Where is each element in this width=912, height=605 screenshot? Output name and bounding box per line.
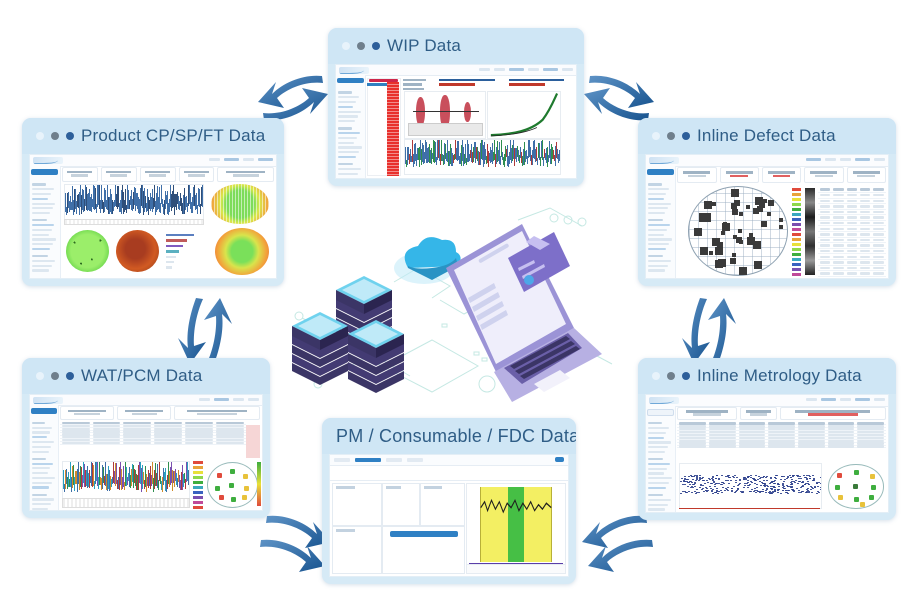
server-stack — [292, 276, 404, 393]
panel-inline-metrology-data[interactable]: Inline Metrology Data — [638, 358, 896, 520]
arrow-fdc-to-metrology — [578, 512, 658, 578]
window-dot-faded-icon — [652, 372, 660, 380]
wafer-die-map — [207, 462, 258, 508]
panel-title-wip: WIP Data — [387, 36, 461, 56]
panel-header-wip: WIP Data — [328, 28, 584, 64]
window-dot-gray-icon — [667, 372, 675, 380]
panel-product-cp-sp-ft-data[interactable]: Product CP/SP/FT Data — [22, 118, 284, 286]
window-dot-faded-icon — [36, 372, 44, 380]
diagram-canvas: WIP Data — [0, 0, 912, 605]
panel-screenshot-fdc — [329, 454, 569, 577]
panel-header-product: Product CP/SP/FT Data — [22, 118, 284, 154]
wafer-die-map — [828, 464, 883, 509]
window-dot-gray-icon — [51, 372, 59, 380]
panel-screenshot-defect — [645, 154, 889, 279]
panel-header-fdc: PM / Consumable / FDC Data — [322, 418, 576, 454]
panel-header-wat: WAT/PCM Data — [22, 358, 270, 394]
panel-title-fdc: PM / Consumable / FDC Data — [336, 426, 576, 447]
panel-title-product: Product CP/SP/FT Data — [81, 126, 265, 146]
arrow-product-to-wat — [172, 296, 238, 366]
panel-screenshot-product — [29, 154, 277, 279]
panel-screenshot-wip — [335, 64, 577, 179]
window-dot-blue-icon — [372, 42, 380, 50]
panel-title-wat: WAT/PCM Data — [81, 366, 202, 386]
window-dot-faded-icon — [36, 132, 44, 140]
panel-inline-defect-data[interactable]: Inline Defect Data — [638, 118, 896, 286]
window-dot-blue-icon — [66, 372, 74, 380]
window-dot-gray-icon — [667, 132, 675, 140]
panel-screenshot-metrology — [645, 394, 889, 513]
window-dot-blue-icon — [66, 132, 74, 140]
window-dot-blue-icon — [682, 132, 690, 140]
panel-header-metrology: Inline Metrology Data — [638, 358, 896, 394]
panel-pm-consumable-fdc-data[interactable]: PM / Consumable / FDC Data — [322, 418, 576, 584]
central-data-platform-illustration — [282, 206, 618, 406]
panel-wip-data[interactable]: WIP Data — [328, 28, 584, 186]
panel-wat-pcm-data[interactable]: WAT/PCM Data — [22, 358, 270, 518]
arrow-defect-to-metrology — [676, 296, 742, 366]
window-dot-gray-icon — [357, 42, 365, 50]
panel-screenshot-wat — [29, 394, 263, 511]
laptop-icon — [446, 224, 602, 402]
panel-header-defect: Inline Defect Data — [638, 118, 896, 154]
window-dot-gray-icon — [51, 132, 59, 140]
window-dot-blue-icon — [682, 372, 690, 380]
panel-title-defect: Inline Defect Data — [697, 126, 836, 146]
panel-title-metrology: Inline Metrology Data — [697, 366, 862, 386]
window-dot-faded-icon — [342, 42, 350, 50]
window-dot-faded-icon — [652, 132, 660, 140]
